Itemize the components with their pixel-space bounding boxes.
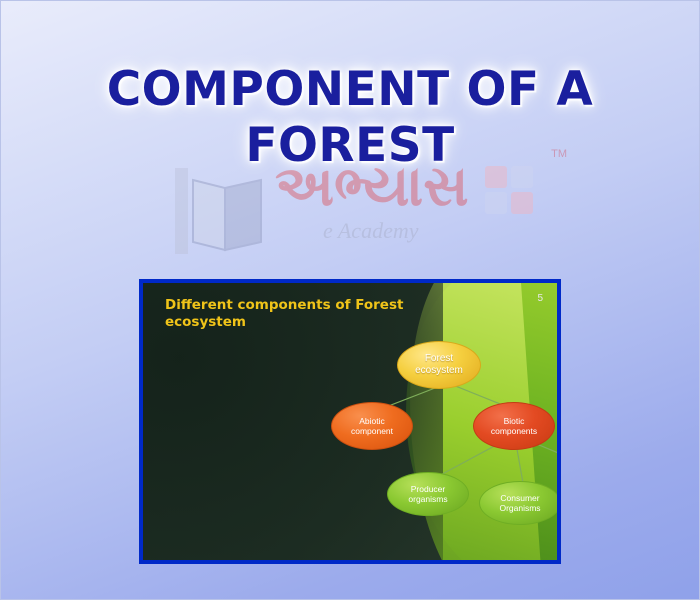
diagram-node-forest-ecosystem-label: Forest ecosystem: [415, 353, 463, 377]
open-book-icon: [173, 162, 277, 258]
watermark-square-4: [511, 192, 533, 214]
watermark-square-3: [485, 192, 507, 214]
page-title: COMPONENT OF A FOREST: [0, 62, 700, 174]
diagram-node-producer-organisms[interactable]: Producer organisms: [387, 472, 469, 516]
diagram-node-abiotic-component[interactable]: Abiotic component: [331, 402, 413, 450]
page-title-line-2: FOREST: [0, 118, 700, 174]
slide-frame: Different components of Forest ecosystem…: [139, 279, 561, 564]
diagram-node-producer-organisms-label: Producer organisms: [408, 484, 447, 504]
diagram-node-biotic-components-label: Biotic components: [491, 416, 537, 436]
diagram-node-forest-ecosystem[interactable]: Forest ecosystem: [397, 341, 481, 389]
diagram-node-consumer-organisms[interactable]: Consumer Organisms: [479, 481, 557, 525]
diagram-node-abiotic-component-label: Abiotic component: [351, 416, 393, 436]
diagram-node-consumer-organisms-label: Consumer Organisms: [499, 493, 540, 513]
slide-canvas: Different components of Forest ecosystem…: [143, 283, 557, 560]
watermark-subtitle: e Academy: [323, 218, 419, 244]
diagram-node-biotic-components[interactable]: Biotic components: [473, 402, 555, 450]
forest-ecosystem-diagram: Forest ecosystem Abiotic component Bioti…: [143, 283, 557, 560]
slide-page: COMPONENT OF A FOREST અભ્યાસ e Academy T…: [0, 0, 700, 600]
page-title-line-1: COMPONENT OF A: [0, 62, 700, 118]
